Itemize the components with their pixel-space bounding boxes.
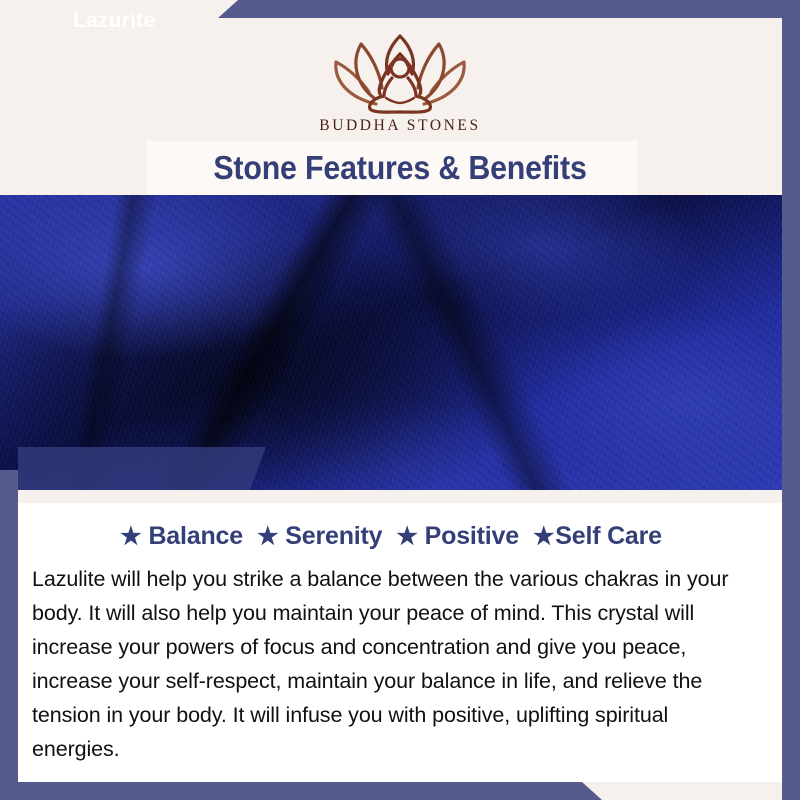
brand-logo: BUDDHA STONES: [0, 18, 800, 135]
brand-name: BUDDHA STONES: [0, 117, 800, 135]
feature-label: Positive: [425, 522, 519, 551]
stone-description: Lazulite will help you strike a balance …: [32, 562, 746, 766]
page-title: Stone Features & Benefits: [32, 144, 768, 192]
stone-name-label: Lazurite: [73, 9, 155, 33]
star-icon: ★: [396, 525, 417, 549]
content-panel: ★Balance ★Serenity ★Positive ★Self Care …: [0, 490, 782, 782]
stone-info-poster: BUDDHA STONES Stone Features & Benefits …: [0, 0, 800, 800]
content-top-strip: [0, 490, 782, 503]
feature-item-self-care: ★Self Care: [533, 522, 662, 551]
frame-right-bar: [782, 0, 800, 800]
feature-list: ★Balance ★Serenity ★Positive ★Self Care: [0, 522, 782, 551]
lotus-meditation-icon: [314, 18, 486, 114]
star-icon: ★: [120, 525, 141, 549]
frame-bottom-bar: [0, 782, 800, 800]
feature-item-balance: ★Balance: [120, 522, 243, 551]
stone-photo: [0, 195, 782, 490]
stone-photo-shadows: [0, 195, 782, 490]
feature-label: Balance: [148, 522, 243, 551]
feature-label: Serenity: [285, 522, 382, 551]
stone-name-tag: [18, 447, 266, 490]
feature-label: Self Care: [555, 522, 662, 551]
feature-item-serenity: ★Serenity: [257, 522, 382, 551]
frame-left-bar: [0, 470, 18, 800]
star-icon: ★: [533, 525, 554, 549]
feature-item-positive: ★Positive: [396, 522, 519, 551]
star-icon: ★: [257, 525, 278, 549]
